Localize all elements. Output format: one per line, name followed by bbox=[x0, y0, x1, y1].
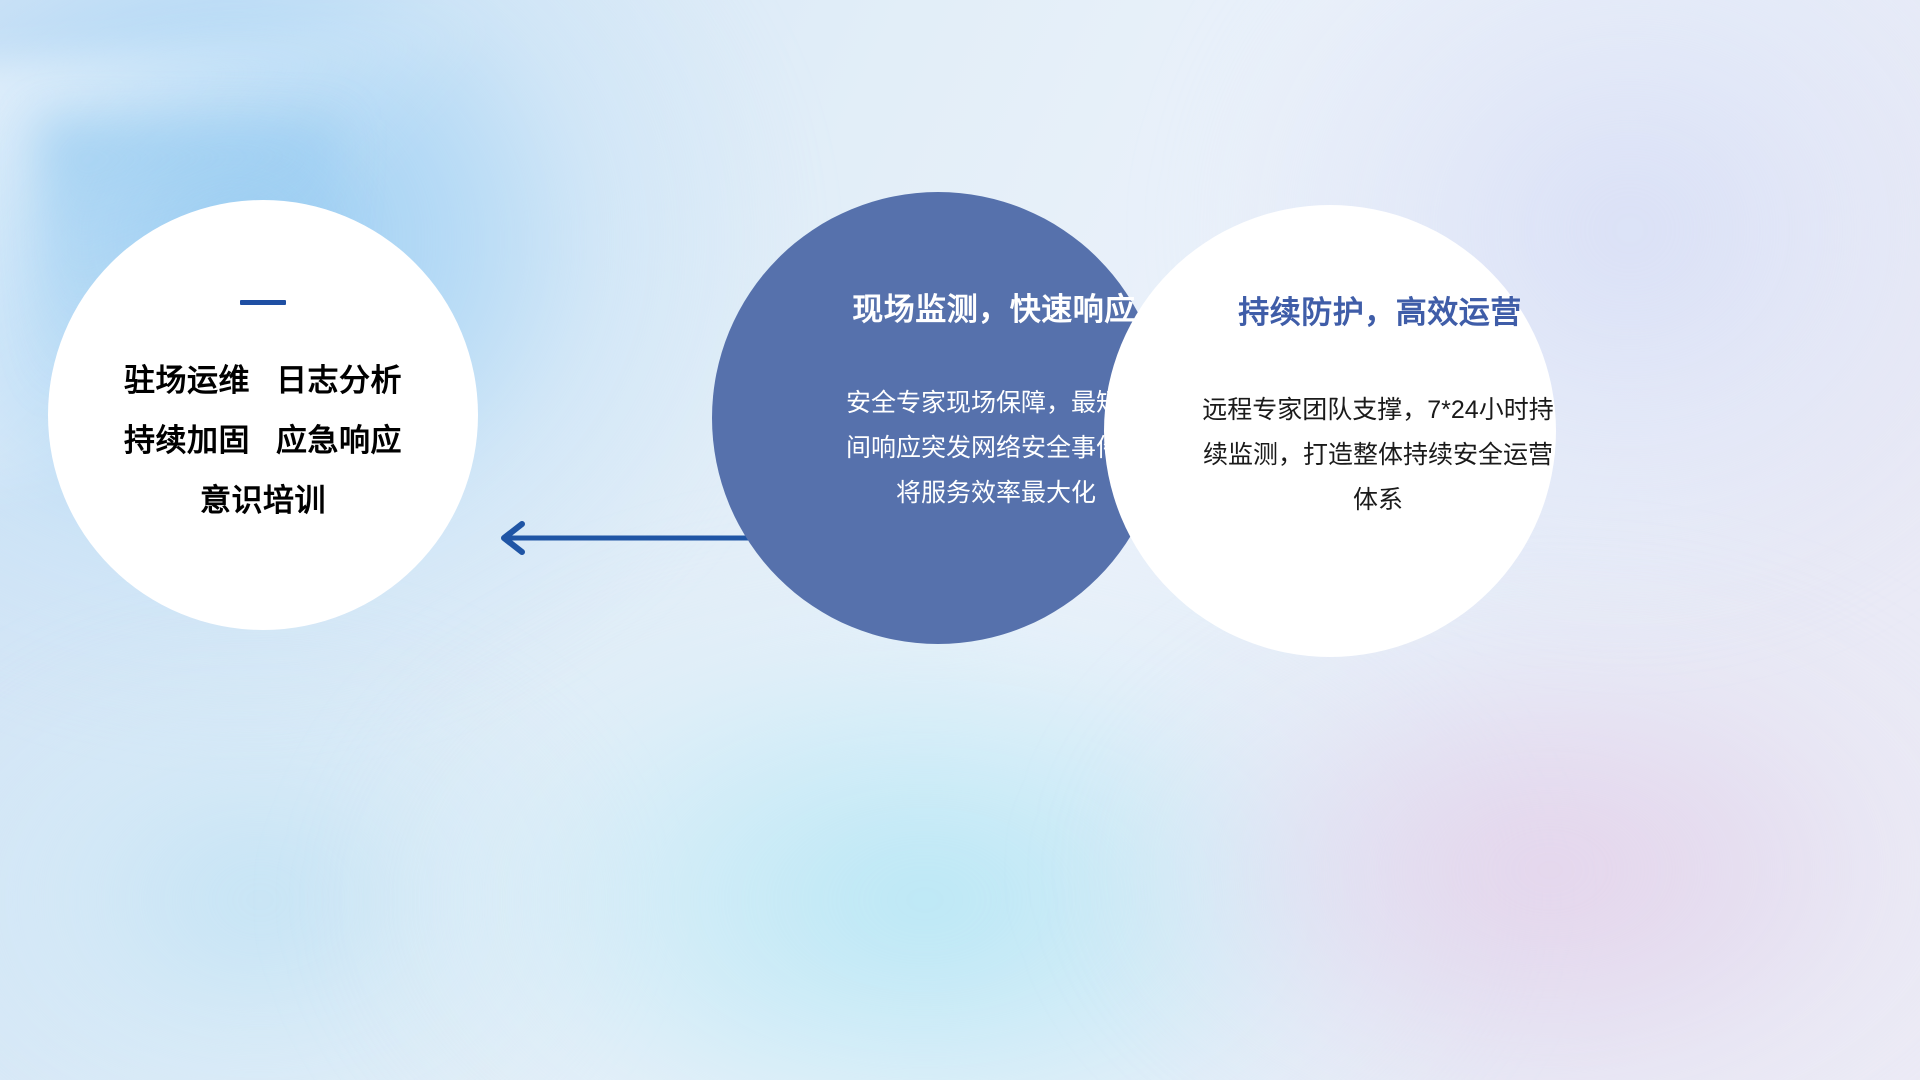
accent-rule-divider bbox=[240, 300, 286, 305]
slide-canvas: 驻场运维日志分析 持续加固应急响应 意识培训 现场监测，快速响应 安全专家现场保… bbox=[0, 0, 1920, 1080]
capability-row-1: 驻场运维日志分析 bbox=[124, 351, 402, 411]
capability-onsite-ops: 驻场运维 bbox=[124, 363, 250, 398]
capability-list: 驻场运维日志分析 持续加固应急响应 意识培训 bbox=[124, 351, 402, 531]
center-circle-body: 安全专家现场保障，最短时间响应突发网络安全事件，将服务效率最大化 bbox=[846, 381, 1146, 516]
capability-row-3: 意识培训 bbox=[124, 471, 402, 531]
center-onsite-monitoring-circle[interactable]: 现场监测，快速响应 安全专家现场保障，最短时间响应突发网络安全事件，将服务效率最… bbox=[712, 192, 1164, 644]
arrow-left-icon bbox=[488, 518, 752, 558]
left-capability-circle[interactable]: 驻场运维日志分析 持续加固应急响应 意识培训 bbox=[48, 200, 478, 630]
right-circle-body: 远程专家团队支撑，7*24小时持续监测，打造整体持续安全运营体系 bbox=[1198, 388, 1558, 523]
capability-log-analysis: 日志分析 bbox=[276, 363, 402, 398]
capability-continuous-hardening: 持续加固 bbox=[124, 423, 250, 458]
right-circle-title: 持续防护，高效运营 bbox=[1238, 287, 1522, 332]
capability-awareness-training: 意识培训 bbox=[200, 483, 326, 518]
flow-arrow-left bbox=[488, 518, 752, 558]
capability-row-2: 持续加固应急响应 bbox=[124, 411, 402, 471]
center-circle-title: 现场监测，快速响应 bbox=[852, 284, 1136, 329]
right-continuous-protection-circle[interactable]: 持续防护，高效运营 远程专家团队支撑，7*24小时持续监测，打造整体持续安全运营… bbox=[1104, 205, 1556, 657]
capability-emergency-response: 应急响应 bbox=[276, 423, 402, 458]
